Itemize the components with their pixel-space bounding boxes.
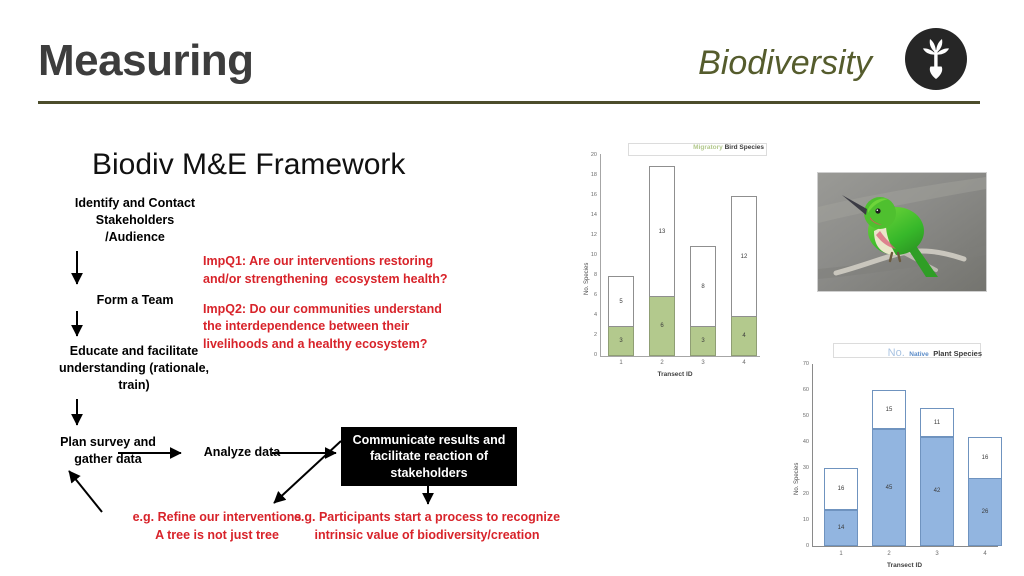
chart2-bar4-blue: 26 <box>968 478 1002 546</box>
flow-node-identify-line1: Identify and Contact <box>6 195 264 212</box>
chart2-bar2-blue: 45 <box>872 429 906 546</box>
chart1-ytick-8: 8 <box>579 272 597 278</box>
chart1-bar1-green: 3 <box>608 326 634 356</box>
chart1-bar2-white: 13 <box>649 166 675 297</box>
chart2-bar3-blue: 42 <box>920 437 954 546</box>
chart1-xtick-4: 4 <box>731 360 757 366</box>
chart1-xtick-2: 2 <box>649 360 675 366</box>
slide-root: Measuring Biodiversity Biodiv M&E Framew… <box>0 0 1024 576</box>
chart1-xlabel: Transect ID <box>575 371 775 378</box>
chart2-title: No. Native Plant Species <box>837 343 982 361</box>
chart2-title-part3: Plant Species <box>933 349 982 358</box>
page-subtitle: Biodiversity <box>698 44 872 83</box>
chart1-ytick-2: 2 <box>579 332 597 338</box>
chart2-ytick-20: 20 <box>791 491 809 497</box>
chart2-bar4-white: 16 <box>968 437 1002 479</box>
impact-question-2: ImpQ2: Do our communities understand the… <box>203 301 463 354</box>
impact-questions: ImpQ1: Are our interventions restoring a… <box>203 253 463 354</box>
chart1-title: Migratory Bird Species <box>632 144 764 151</box>
chart2-bar3-white: 11 <box>920 408 954 437</box>
flow-node-educate-line3: train) <box>0 377 268 394</box>
header-divider <box>38 101 980 104</box>
chart1-ytick-4: 4 <box>579 312 597 318</box>
chart2-bar2-white: 15 <box>872 390 906 429</box>
chart2-title-part1: No. <box>888 347 905 359</box>
chart1-ytick-12: 12 <box>579 232 597 238</box>
example-participants-line1: e.g. Participants start a process to rec… <box>292 509 562 527</box>
flow-node-communicate-line2: facilitate reaction of <box>353 448 506 465</box>
chart1-bar1-white: 5 <box>608 276 634 327</box>
chart2-xtick-2: 2 <box>872 551 906 557</box>
chart-migratory-bird-species: Migratory Bird Species No. Species 20 18… <box>575 140 775 380</box>
chart1-ylabel: No. Species <box>584 263 590 295</box>
chart1-title-part2: Bird Species <box>725 144 764 151</box>
chart1-ytick-16: 16 <box>579 192 597 198</box>
flow-node-communicate: Communicate results and facilitate react… <box>341 427 517 486</box>
flow-node-identify-line3: /Audience <box>6 229 264 246</box>
chart2-xtick-1: 1 <box>824 551 858 557</box>
flow-node-communicate-line1: Communicate results and <box>353 432 506 449</box>
chart1-ytick-6: 6 <box>579 292 597 298</box>
chart2-ytick-0: 0 <box>791 543 809 549</box>
chart1-x-axis <box>600 356 760 357</box>
chart2-x-axis <box>812 546 998 547</box>
chart1-bar3-green: 3 <box>690 326 716 356</box>
chart1-bar3-white: 8 <box>690 246 716 327</box>
chart2-bar1-blue: 14 <box>824 510 858 546</box>
impact-question-1: ImpQ1: Are our interventions restoring a… <box>203 253 463 289</box>
chart1-ytick-0: 0 <box>579 352 597 358</box>
flow-node-identify: Identify and Contact Stakeholders /Audie… <box>6 195 264 246</box>
example-participants-line2: intrinsic value of biodiversity/creation <box>292 527 562 545</box>
chart2-xtick-4: 4 <box>968 551 1002 557</box>
chart2-ytick-60: 60 <box>791 387 809 393</box>
chart2-ytick-70: 70 <box>791 361 809 367</box>
chart1-xtick-3: 3 <box>690 360 716 366</box>
chart2-ytick-30: 30 <box>791 465 809 471</box>
flow-node-communicate-line3: stakeholders <box>353 465 506 482</box>
green-tody-bird-photo <box>817 172 987 292</box>
framework-title: Biodiv M&E Framework <box>92 148 405 182</box>
chart1-ytick-20: 20 <box>579 152 597 158</box>
chart1-xtick-1: 1 <box>608 360 634 366</box>
chart1-bar4-white: 12 <box>731 196 757 317</box>
chart1-ytick-14: 14 <box>579 212 597 218</box>
chart2-y-axis <box>812 364 813 547</box>
chart2-xlabel: Transect ID <box>785 562 1024 569</box>
chart1-y-axis <box>600 154 601 357</box>
chart2-ytick-50: 50 <box>791 413 809 419</box>
chart1-bar4-green: 4 <box>731 316 757 356</box>
chart1-ytick-10: 10 <box>579 252 597 258</box>
page-title: Measuring <box>38 36 254 86</box>
chart2-xtick-3: 3 <box>920 551 954 557</box>
chart-native-plant-species: No. Native Plant Species No. Species 70 … <box>785 340 1024 576</box>
chart2-bar1-white: 16 <box>824 468 858 510</box>
chart1-title-part1: Migratory <box>693 144 723 151</box>
chart1-ytick-18: 18 <box>579 172 597 178</box>
chart1-bar2-green: 6 <box>649 296 675 356</box>
flow-node-analyze: Analyze data <box>178 444 306 461</box>
chart2-ytick-40: 40 <box>791 439 809 445</box>
flow-node-educate-line2: understanding (rationale, <box>0 360 268 377</box>
flow-node-identify-line2: Stakeholders <box>6 212 264 229</box>
example-participants-recognize: e.g. Participants start a process to rec… <box>292 509 562 545</box>
chart2-ytick-10: 10 <box>791 517 809 523</box>
shovel-plant-icon <box>905 28 967 90</box>
chart2-title-part2: Native <box>909 351 929 358</box>
